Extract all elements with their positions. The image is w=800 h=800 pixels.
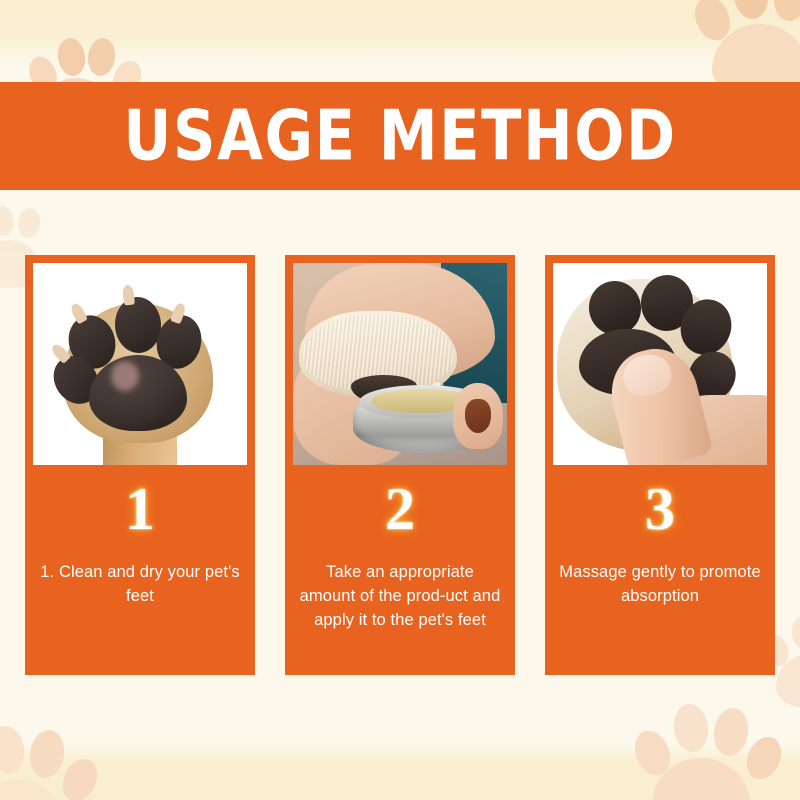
paw-toe-pad bbox=[731, 0, 770, 21]
paw-toe-pad bbox=[671, 702, 711, 754]
step-3-caption: Massage gently to promote absorption bbox=[557, 561, 763, 609]
paw-claw-shape bbox=[122, 284, 135, 305]
step-2-photo bbox=[293, 263, 507, 465]
fingernail-shape bbox=[465, 399, 491, 433]
paw-toe-pad bbox=[740, 731, 788, 784]
paw-toe-pad bbox=[26, 728, 67, 781]
paw-print-decoration-bottom-left bbox=[0, 712, 96, 800]
paw-toe-pad bbox=[16, 206, 42, 239]
paw-toe-pad bbox=[771, 0, 800, 23]
step-3-number: 3 bbox=[645, 479, 675, 539]
step-1-photo bbox=[33, 263, 247, 465]
step-1-number: 1 bbox=[125, 479, 155, 539]
paw-toe-pad bbox=[56, 753, 104, 800]
usage-method-poster: USAGE METHOD 1 1. Clean and dry your pet… bbox=[0, 0, 800, 800]
paw-main-pad bbox=[0, 780, 66, 800]
header-band: USAGE METHOD bbox=[0, 82, 800, 190]
paw-toe-pad bbox=[55, 36, 87, 77]
paw-toe-pad bbox=[0, 205, 16, 237]
page-title: USAGE METHOD bbox=[123, 101, 676, 170]
step-3-photo bbox=[553, 263, 767, 465]
step-card-3: 3 Massage gently to promote absorption bbox=[545, 255, 775, 675]
step-2-number: 2 bbox=[385, 479, 415, 539]
step-2-caption: Take an appropriate amount of the prod-u… bbox=[297, 561, 503, 633]
paw-toe-pad bbox=[85, 36, 117, 77]
steps-row: 1 1. Clean and dry your pet's feet bbox=[25, 255, 775, 675]
paw-toe-pad bbox=[710, 706, 751, 759]
paw-toe-pad bbox=[790, 615, 800, 652]
step-card-1: 1 1. Clean and dry your pet's feet bbox=[25, 255, 255, 675]
paw-toe-pad bbox=[0, 724, 27, 776]
step-1-caption: 1. Clean and dry your pet's feet bbox=[37, 561, 243, 609]
paw-print-decoration-bottom-center bbox=[630, 690, 780, 800]
step-card-2: 2 Take an appropriate amount of the prod… bbox=[285, 255, 515, 675]
